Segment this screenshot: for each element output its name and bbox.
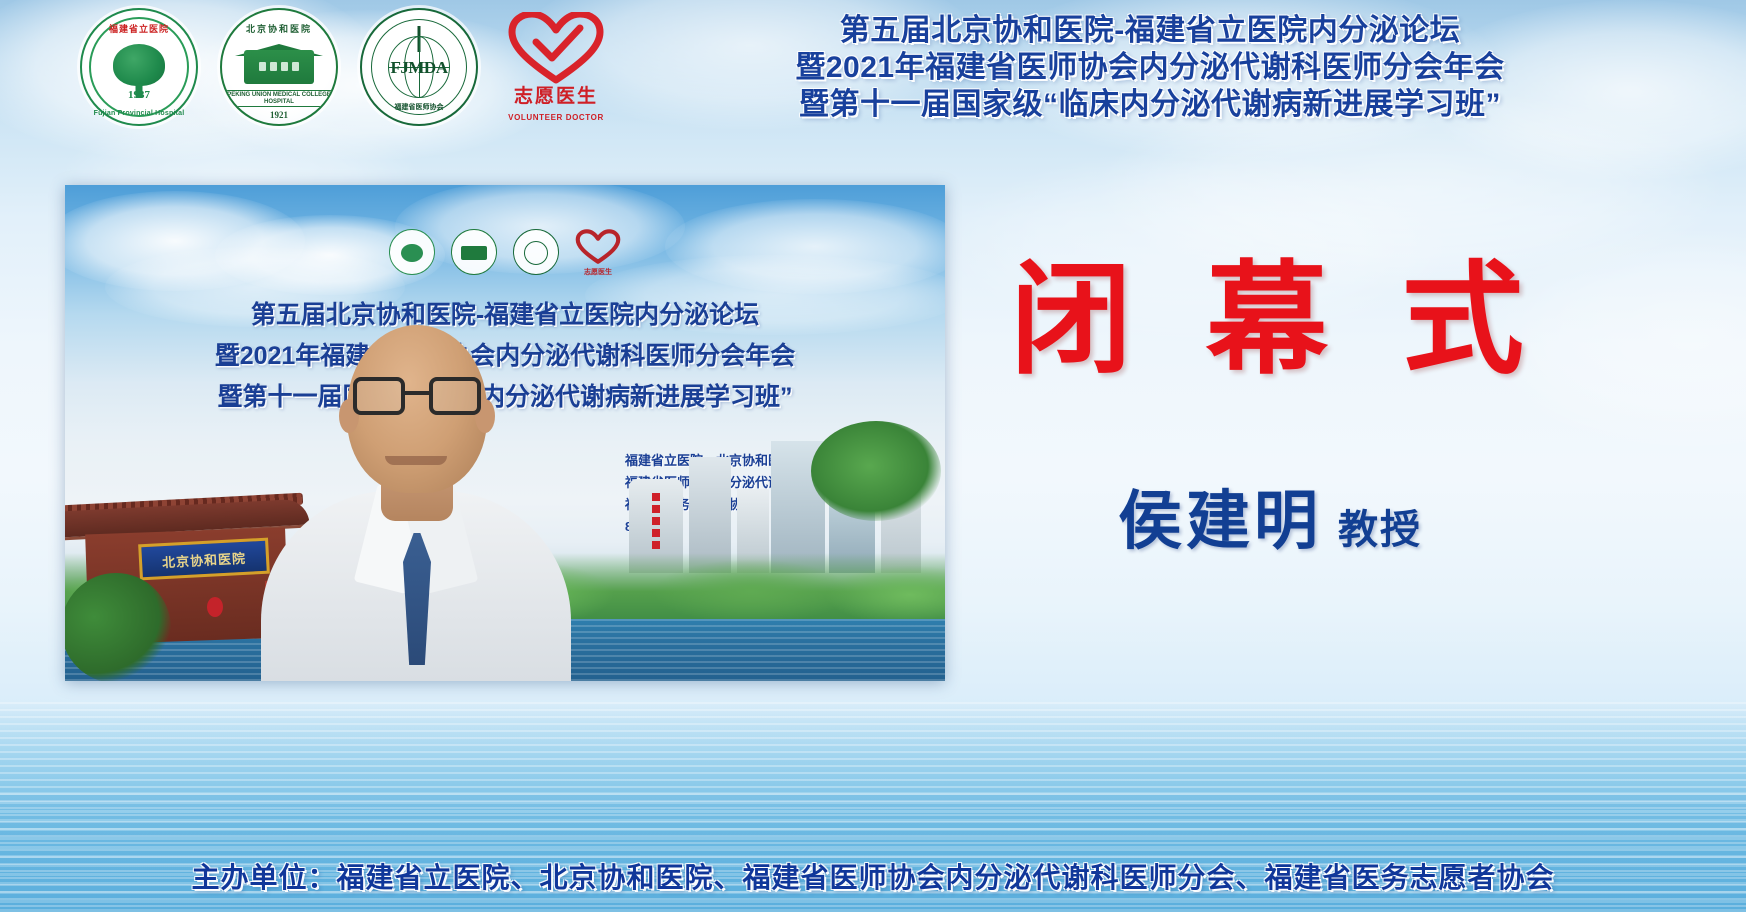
speaker-name: 侯建明 — [1118, 470, 1322, 562]
eyeglass-lens-right — [429, 377, 481, 415]
palm-plant-scenery — [65, 573, 171, 681]
pavilion-icon — [461, 246, 487, 260]
backdrop-logo-row: 志愿医生 — [389, 229, 621, 275]
logo-row: 福建省立医院 1937 Fujian Provincial Hospital 北… — [80, 8, 612, 126]
conference-title: 第五届北京协和医院-福建省立医院内分泌论坛 暨2021年福建省医师协会内分泌代谢… — [560, 12, 1740, 123]
fujian-provincial-hospital-logo: 福建省立医院 1937 Fujian Provincial Hospital — [80, 8, 198, 126]
logo-year: 1937 — [82, 89, 196, 101]
tree-icon — [113, 44, 165, 86]
pumc-hospital-logo: 北京协和医院 PEKING UNION MEDICAL COLLEGE HOSP… — [220, 8, 338, 126]
header: 福建省立医院 1937 Fujian Provincial Hospital 北… — [0, 0, 1746, 136]
logo-cn-label: 志愿医生 — [575, 267, 621, 277]
footer-organizers-text: 主办单位：福建省立医院、北京协和医院、福建省医师协会内分泌代谢科医师分会、福建省… — [191, 856, 1554, 896]
logo-cn-label: 福建省医师协会 — [362, 102, 476, 112]
eyeglass-lens-left — [353, 377, 405, 415]
closing-ceremony-title: 闭 幕 式 — [1010, 258, 1510, 382]
speaker-mouth — [385, 456, 447, 465]
tree-icon — [811, 421, 941, 521]
logo-banner: PEKING UNION MEDICAL COLLEGE HOSPITAL — [226, 90, 332, 107]
speaker-figure — [261, 331, 571, 681]
fjmda-logo-small — [513, 229, 559, 275]
title-line-2: 暨2021年福建省医师协会内分泌代谢科医师分会年会 — [560, 49, 1740, 86]
pavilion-windows-icon — [259, 62, 299, 71]
slide-stage: 福建省立医院 1937 Fujian Provincial Hospital 北… — [0, 0, 1746, 912]
tree-icon — [401, 244, 423, 262]
speaker-name-block: 侯建明 教授 — [1010, 470, 1530, 562]
building-sign-icon — [652, 493, 660, 549]
eyeglass-bridge — [405, 391, 429, 395]
fjmda-logo: FJMDA 福建省医师协会 — [360, 8, 478, 126]
eyeglasses-icon — [353, 377, 481, 415]
logo-cn-label: 北京协和医院 — [222, 22, 336, 35]
title-line-3: 暨第十一届国家级“临床内分泌代谢病新进展学习班” — [560, 86, 1740, 123]
pumc-hospital-logo-small — [451, 229, 497, 275]
city-skyline — [615, 423, 945, 573]
logo-abbreviation: FJMDA — [362, 58, 476, 78]
globe-icon — [524, 241, 548, 265]
gate-plaque: 北京协和医院 — [138, 538, 270, 581]
volunteer-doctor-logo-small: 志愿医生 — [575, 229, 621, 275]
lantern-icon — [207, 597, 223, 617]
backdrop-title-line-1: 第五届北京协和医院-福建省立医院内分泌论坛 — [65, 295, 945, 336]
heart-icon — [575, 229, 621, 265]
title-line-1: 第五届北京协和医院-福建省立医院内分泌论坛 — [560, 12, 1740, 49]
logo-en-label: PEKING UNION MEDICAL COLLEGE HOSPITAL — [226, 92, 332, 106]
logo-en-label: Fujian Provincial Hospital — [82, 110, 196, 117]
logo-cn-label: 福建省立医院 — [82, 22, 196, 35]
speaker-video-panel[interactable]: 志愿医生 第五届北京协和医院-福建省立医院内分泌论坛 暨2021年福建省医师协会… — [65, 185, 945, 681]
fujian-provincial-hospital-logo-small — [389, 229, 435, 275]
logo-year: 1921 — [222, 110, 336, 120]
speaker-academic-title: 教授 — [1338, 497, 1422, 555]
footer-banner: 主办单位：福建省立医院、北京协和医院、福建省医师协会内分泌代谢科医师分会、福建省… — [0, 840, 1746, 912]
